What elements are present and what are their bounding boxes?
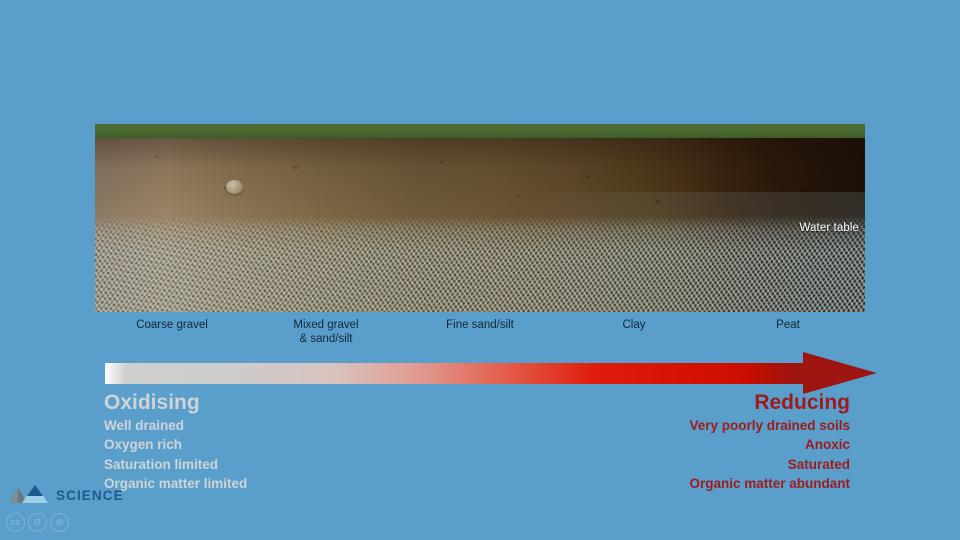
oxidising-line-4: Organic matter limited bbox=[104, 474, 247, 493]
reducing-line-3: Saturated bbox=[689, 455, 850, 474]
gradient-arrow-shaft bbox=[105, 363, 805, 384]
oxidising-line-1: Well drained bbox=[104, 416, 247, 435]
reducing-line-1: Very poorly drained soils bbox=[689, 416, 850, 435]
reducing-line-4: Organic matter abundant bbox=[689, 474, 850, 493]
oxidising-descriptor-block: Oxidising Well drained Oxygen rich Satur… bbox=[104, 390, 247, 494]
gradient-arrow-shaft-dark-end bbox=[745, 363, 805, 384]
reducing-descriptor-block: Reducing Very poorly drained soils Anoxi… bbox=[689, 390, 850, 494]
oxidising-line-3: Saturation limited bbox=[104, 455, 247, 474]
slide-canvas: Water table Coarse gravel Mixed gravel &… bbox=[0, 0, 960, 540]
arrow-head-icon bbox=[803, 352, 877, 394]
soil-profile-image: Water table bbox=[95, 124, 865, 312]
redox-gradient-arrow bbox=[105, 352, 875, 392]
creative-commons-badges: cc Θ ⊖ bbox=[6, 513, 69, 532]
logo-text: SCIENCE bbox=[56, 488, 124, 503]
cc-nd-nonderivative-icon: ⊖ bbox=[50, 513, 69, 532]
oxidising-line-2: Oxygen rich bbox=[104, 435, 247, 454]
water-table-shading bbox=[95, 192, 865, 312]
cc-by-attribution-icon: Θ bbox=[28, 513, 47, 532]
mountain-logo-icon bbox=[8, 483, 50, 507]
reducing-heading: Reducing bbox=[689, 390, 850, 415]
oxidising-heading: Oxidising bbox=[104, 390, 247, 415]
brand-logo: SCIENCE bbox=[8, 483, 124, 507]
water-table-label: Water table bbox=[800, 222, 859, 234]
grass-surface-layer bbox=[95, 124, 865, 138]
creative-commons-icon: cc bbox=[6, 513, 25, 532]
reducing-line-2: Anoxic bbox=[689, 435, 850, 454]
